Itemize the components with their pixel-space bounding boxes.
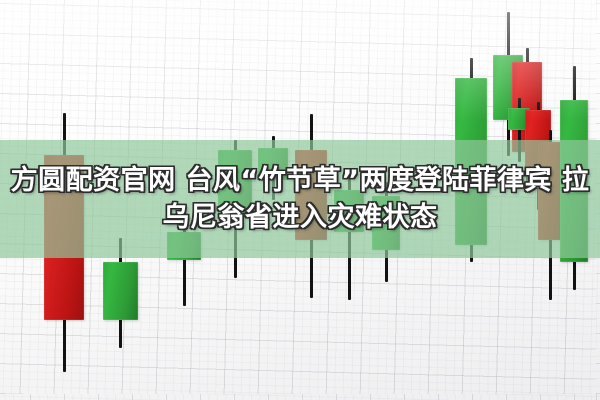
green-tint-band — [0, 140, 600, 258]
banner-image: 方圆配资官网 台风“竹节草”两度登陆菲律宾 拉 乌尼翁省进入灾难状态 — [0, 0, 600, 400]
